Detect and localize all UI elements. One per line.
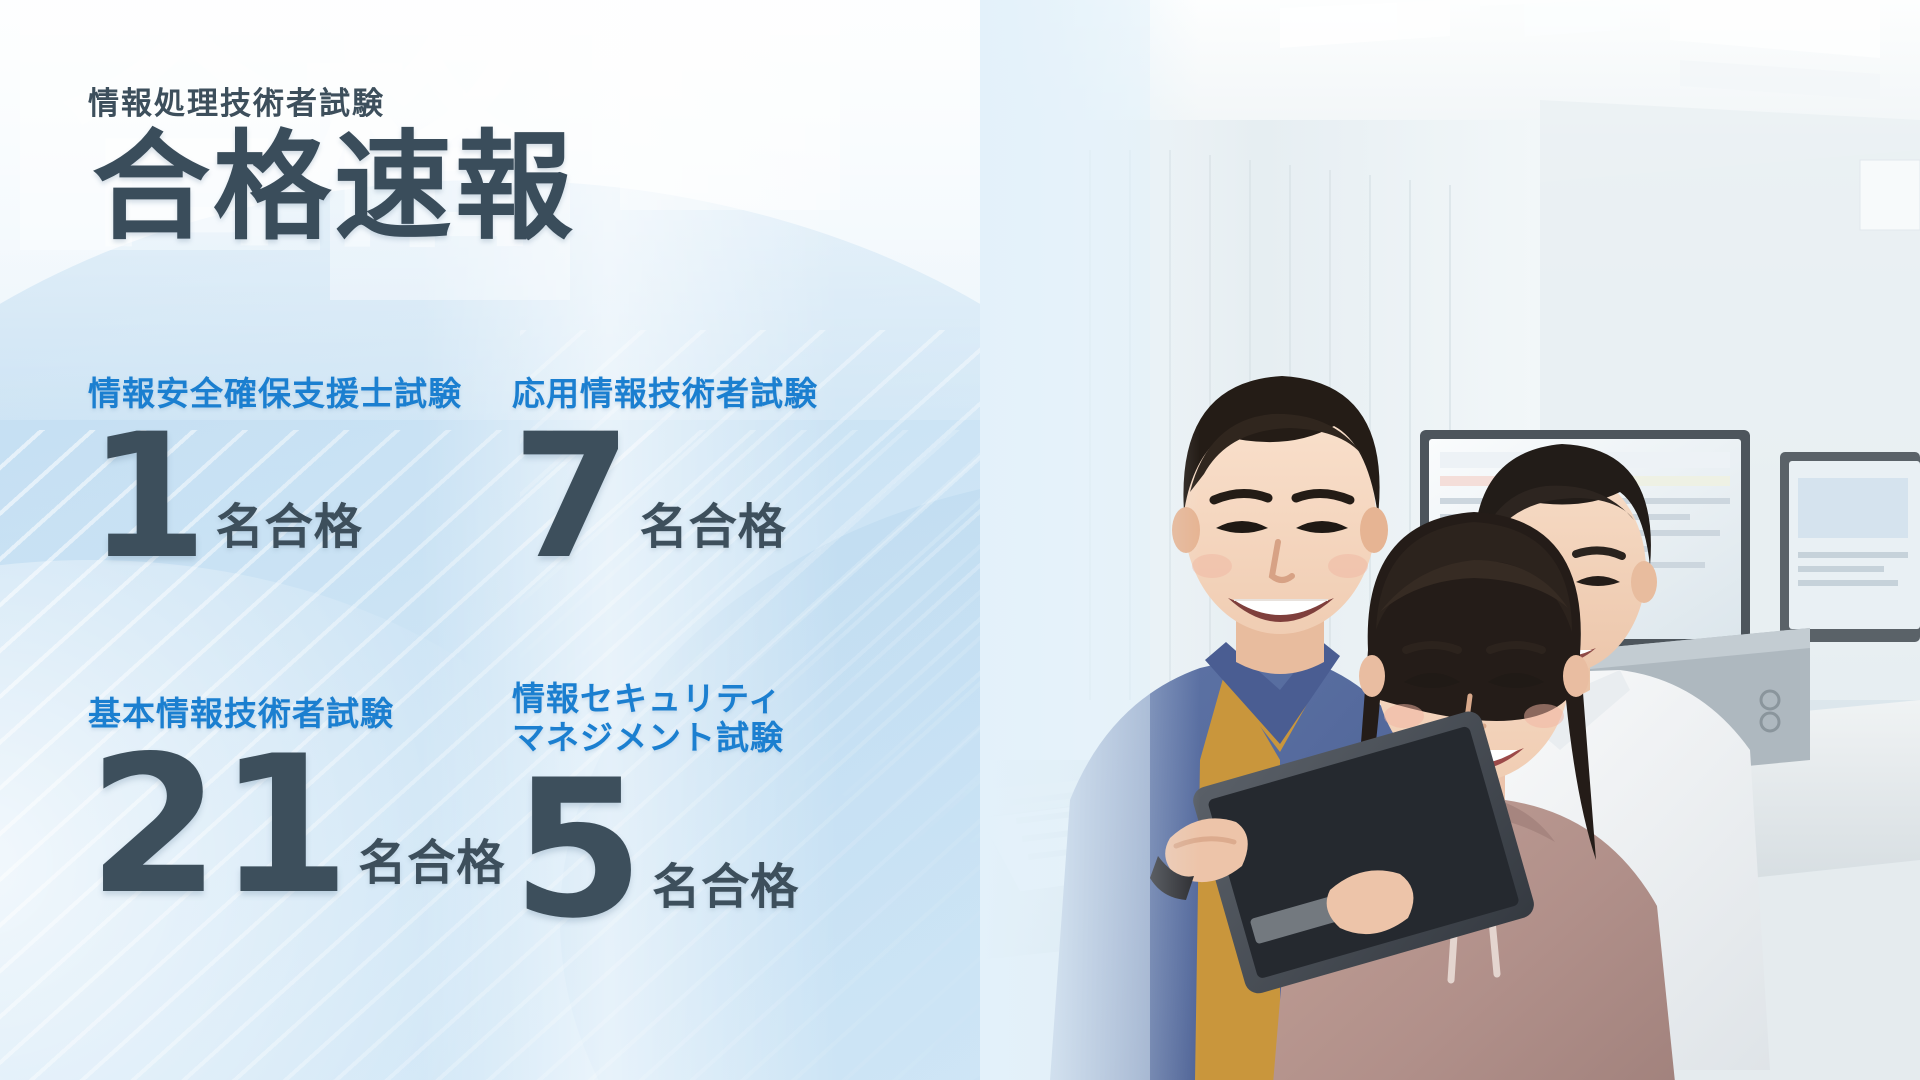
stat-unit: 名合格 [206,487,363,575]
students-photo [980,0,1920,1080]
stat-number: 21 [88,740,348,911]
stat-unit: 名合格 [630,487,787,575]
stat-block-security-management: 情報セキュリティ マネジメント試験 5 名合格 [512,680,799,935]
stat-value-row: 1 名合格 [88,420,462,575]
stat-unit: 名合格 [642,847,799,935]
stat-value-row: 5 名合格 [512,764,799,935]
stat-number: 7 [512,420,630,575]
stats-group: 情報安全確保支援士試験 1 名合格 応用情報技術者試験 7 名合格 基本情報技術… [0,0,940,1080]
stat-number: 5 [512,764,642,935]
stat-unit: 名合格 [348,823,505,911]
stat-number: 1 [88,420,206,575]
stat-block-joho-anzen: 情報安全確保支援士試験 1 名合格 [88,375,462,575]
stat-block-oyo-joho: 応用情報技術者試験 7 名合格 [512,375,818,575]
stat-value-row: 21 名合格 [88,740,505,911]
promo-banner: 合格 [0,0,1920,1080]
stat-block-kihon-joho: 基本情報技術者試験 21 名合格 [88,695,505,911]
stat-label-line1: 情報セキュリティ [512,679,782,718]
stat-value-row: 7 名合格 [512,420,818,575]
